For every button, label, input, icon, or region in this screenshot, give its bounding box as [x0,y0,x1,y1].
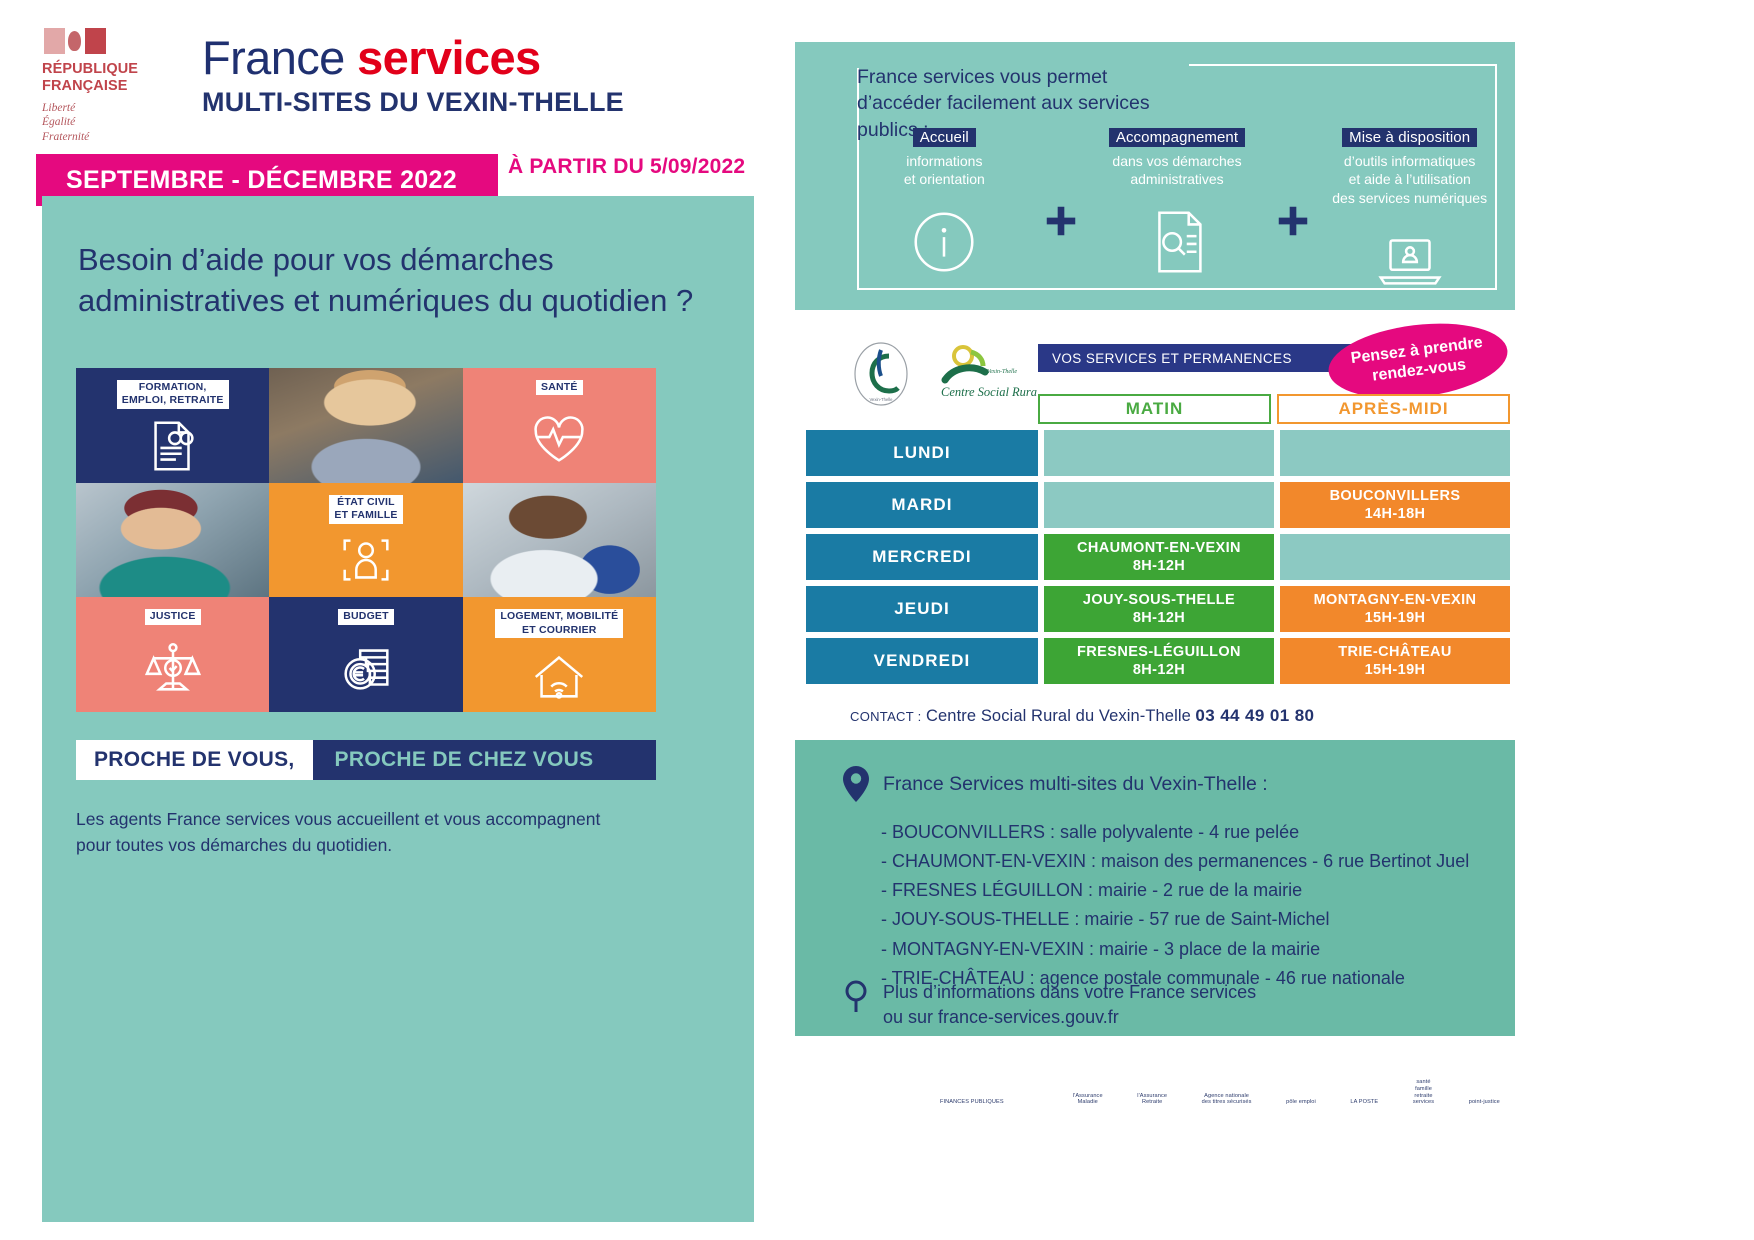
photo-agent-woman [269,368,462,483]
slot-morning [1044,482,1274,528]
document-search-icon [1137,203,1217,281]
tile-label-line-2: EMPLOI, RETRAITE [122,394,224,407]
document-glasses-icon [76,409,269,483]
services-tile-grid: FORMATION, EMPLOI, RETRAITE SANT [76,368,656,712]
page-subtitle: MULTI-SITES DU VEXIN-THELLE [202,87,624,118]
title-services: services [357,31,540,84]
slot-place: JOUY-SOUS-THELLE [1083,591,1235,609]
list-item: - MONTAGNY-EN-VEXIN : mairie - 3 place d… [881,935,1469,964]
table-row: MARDI BOUCONVILLERS 14H-18H [800,482,1510,528]
slogan-part-1: PROCHE DE VOUS, [76,740,313,780]
row-day-label: MARDI [806,482,1038,528]
heart-pulse-icon [463,395,656,482]
contact-organisation: Centre Social Rural du Vexin-Thelle [926,707,1191,725]
tile-label-line-1: SANTÉ [541,381,578,393]
table-row: JEUDI JOUY-SOUS-THELLE 8H-12H MONTAGNY-E… [800,586,1510,632]
row-day-label: VENDREDI [806,638,1038,684]
republique-label: RÉPUBLIQUE FRANÇAISE [42,61,174,95]
point-justice-logo: point-justice [1469,1069,1500,1106]
access-desc: informations et orientation [904,152,985,189]
partner-label: l'Assurance Retraite [1137,1093,1167,1106]
locations-list: - BOUCONVILLERS : salle polyvalente - 4 … [881,818,1469,993]
republique-line-1: RÉPUBLIQUE [42,61,174,78]
list-item: - BOUCONVILLERS : salle polyvalente - 4 … [881,818,1469,847]
tile-justice: JUSTICE [76,597,269,712]
poster-root: RÉPUBLIQUE FRANÇAISE Liberté Égalité Fra… [0,0,1754,1240]
marianne-flag-icon [44,28,106,54]
starting-date-label: À PARTIR DU 5/09/2022 [508,155,745,179]
table-row: LUNDI [800,430,1510,476]
scales-check-icon [76,625,269,712]
slot-hours: 15H-19H [1365,661,1426,679]
schedule-header-row: MATIN APRÈS-MIDI [800,394,1510,424]
partner-label: FINANCES PUBLIQUES [940,1099,1004,1106]
partner-label: l'Assurance Maladie [1073,1093,1103,1106]
date-range-label: SEPTEMBRE - DÉCEMBRE 2022 [66,166,457,195]
plus-icon-2 [1264,128,1322,240]
house-wifi-icon [463,638,656,712]
devise-text: Liberté Égalité Fraternité [42,101,174,145]
access-column-accueil: Accueil informations et orientation [857,128,1032,281]
assurance-retraite-logo: l'Assurance Retraite [1137,1063,1167,1106]
partner-label: santé famille retraite services [1413,1079,1434,1106]
slogan-part-2: PROCHE DE CHEZ VOUS [313,740,656,780]
tile-label: FORMATION, EMPLOI, RETRAITE [117,380,229,409]
partner-label: pôle emploi [1286,1099,1316,1106]
slot-hours: 14H-18H [1365,505,1426,523]
list-item: - FRESNES LÉGUILLON : mairie - 2 rue de … [881,876,1469,905]
slot-place: BOUCONVILLERS [1330,487,1461,505]
slogan-banner: PROCHE DE VOUS, PROCHE DE CHEZ VOUS [76,740,656,780]
ants-logo: Agence nationale des titres sécurisés [1202,1063,1252,1106]
left-panel: RÉPUBLIQUE FRANÇAISE Liberté Égalité Fra… [0,0,790,1240]
access-desc: dans vos démarches administratives [1112,152,1241,189]
more-info-row: Plus d’informations dans votre France se… [843,980,1256,1030]
access-columns: Accueil informations et orientation [857,128,1497,299]
contact-phone[interactable]: 03 44 49 01 80 [1195,706,1314,725]
slot-afternoon: MONTAGNY-EN-VEXIN 15H-19H [1280,586,1510,632]
slot-place: CHAUMONT-EN-VEXIN [1077,539,1241,557]
table-row: MERCREDI CHAUMONT-EN-VEXIN 8H-12H [800,534,1510,580]
partner-logos-strip: FINANCES PUBLIQUES l'Assurance Maladie l… [940,1058,1500,1106]
more-info-text: Plus d’informations dans votre France se… [883,980,1256,1030]
tile-sante: SANTÉ [463,368,656,483]
finances-publiques-logo: FINANCES PUBLIQUES [940,1069,1004,1106]
info-circle-icon [904,203,984,281]
access-tag: Mise à disposition [1342,128,1477,147]
map-pin-icon [843,766,869,802]
tile-label: JUSTICE [145,609,201,624]
row-day-label: LUNDI [806,430,1038,476]
tile-logement-mobilite-courrier: LOGEMENT, MOBILITÉ ET COURRIER [463,597,656,712]
tile-label-line-2: ET COURRIER [500,624,618,637]
tile-label-line-1: LOGEMENT, MOBILITÉ [500,610,618,622]
page-title: France services [202,34,624,81]
plus-icon-1 [1032,128,1090,240]
title-block: France services MULTI-SITES DU VEXIN-THE… [202,28,624,118]
locations-heading: France Services multi-sites du Vexin-The… [883,773,1268,796]
tile-label-line-1: JUSTICE [150,610,196,622]
tile-label-line-1: BUDGET [343,610,389,622]
slot-hours: 15H-19H [1365,609,1426,627]
tile-label: BUDGET [338,609,394,624]
left-teal-card: Besoin d’aide pour vos démarches adminis… [42,196,754,1222]
locations-card: France Services multi-sites du Vexin-The… [795,740,1515,1036]
more-info-line-2[interactable]: ou sur france-services.gouv.fr [883,1007,1119,1027]
table-row: VENDREDI FRESNES-LÉGUILLON 8H-12H TRIE-C… [800,638,1510,684]
tile-label-line-1: FORMATION, [139,381,207,393]
tile-label-line-1: ÉTAT CIVIL [337,496,395,508]
left-footer-text: Les agents France services vous accueill… [76,806,636,859]
slot-place: FRESNES-LÉGUILLON [1077,643,1241,661]
tile-budget: BUDGET [269,597,462,712]
slot-morning: FRESNES-LÉGUILLON 8H-12H [1044,638,1274,684]
column-header-apres-midi: APRÈS-MIDI [1277,394,1510,424]
access-tag: Accueil [913,128,976,147]
schedule-card: Vexin-Thelle Vexin-Thelle Centre Social … [795,320,1515,730]
lede-question: Besoin d’aide pour vos démarches adminis… [78,240,698,322]
row-day-label: JEUDI [806,586,1038,632]
slot-hours: 8H-12H [1133,557,1185,575]
title-france: France [202,31,357,84]
locations-heading-row: France Services multi-sites du Vexin-The… [843,766,1268,802]
svg-text:Vexin-Thelle: Vexin-Thelle [987,369,1017,375]
euro-coins-icon [269,625,462,712]
search-icon [843,980,869,1014]
tile-label: SANTÉ [536,380,583,395]
column-header-matin: MATIN [1038,394,1271,424]
tile-formation-emploi-retraite: FORMATION, EMPLOI, RETRAITE [76,368,269,483]
partner-label: LA POSTE [1350,1099,1378,1106]
pole-emploi-logo: pôle emploi [1286,1069,1316,1106]
laptop-user-icon [1370,221,1450,299]
access-desc: d’outils informatiques et aide à l’utili… [1332,152,1487,207]
contact-line: CONTACT : Centre Social Rural du Vexin-T… [850,706,1314,726]
access-card: France services vous permet d’accéder fa… [795,42,1515,310]
partner-label: Agence nationale des titres sécurisés [1202,1093,1252,1106]
schedule-banner-label: VOS SERVICES ET PERMANENCES [1052,351,1292,366]
slot-afternoon: BOUCONVILLERS 14H-18H [1280,482,1510,528]
slot-hours: 8H-12H [1133,609,1185,627]
family-person-icon [269,524,462,598]
republique-francaise-logo: RÉPUBLIQUE FRANÇAISE Liberté Égalité Fra… [42,28,174,145]
tile-label: LOGEMENT, MOBILITÉ ET COURRIER [495,609,623,638]
slot-place: MONTAGNY-EN-VEXIN [1314,591,1477,609]
row-day-label: MERCREDI [806,534,1038,580]
la-poste-logo: LA POSTE [1350,1069,1378,1106]
access-tag: Accompagnement [1109,128,1245,147]
list-item: - CHAUMONT-EN-VEXIN : maison des permane… [881,847,1469,876]
more-info-line-1: Plus d’informations dans votre France se… [883,982,1256,1002]
assurance-maladie-logo: l'Assurance Maladie [1073,1063,1103,1106]
list-item: - JOUY-SOUS-THELLE : mairie - 57 rue de … [881,905,1469,934]
schedule-table: MATIN APRÈS-MIDI LUNDI MARDI [800,394,1510,684]
partner-label: point-justice [1469,1099,1500,1106]
slot-morning [1044,430,1274,476]
photo-agent-woman-2 [76,483,269,598]
slot-afternoon: TRIE-CHÂTEAU 15H-19H [1280,638,1510,684]
slot-place: TRIE-CHÂTEAU [1338,643,1452,661]
photo-agent-man [463,483,656,598]
brand-row: RÉPUBLIQUE FRANÇAISE Liberté Égalité Fra… [42,28,624,145]
msa-logo: santé famille retraite services [1413,1049,1434,1106]
tile-etat-civil-famille: ÉTAT CIVIL ET FAMILLE [269,483,462,598]
republique-line-2: FRANÇAISE [42,78,174,95]
right-panel: France services vous permet d’accéder fa… [790,0,1754,1240]
slot-afternoon [1280,534,1510,580]
contact-label: CONTACT : [850,709,922,724]
slot-morning: CHAUMONT-EN-VEXIN 8H-12H [1044,534,1274,580]
tile-label: ÉTAT CIVIL ET FAMILLE [329,495,402,524]
slot-hours: 8H-12H [1133,661,1185,679]
access-column-mise-a-disposition: Mise à disposition d’outils informatique… [1322,128,1497,299]
slot-morning: JOUY-SOUS-THELLE 8H-12H [1044,586,1274,632]
tile-label-line-2: ET FAMILLE [334,509,397,522]
slot-afternoon [1280,430,1510,476]
access-column-accompagnement: Accompagnement dans vos démarches admini… [1090,128,1265,281]
